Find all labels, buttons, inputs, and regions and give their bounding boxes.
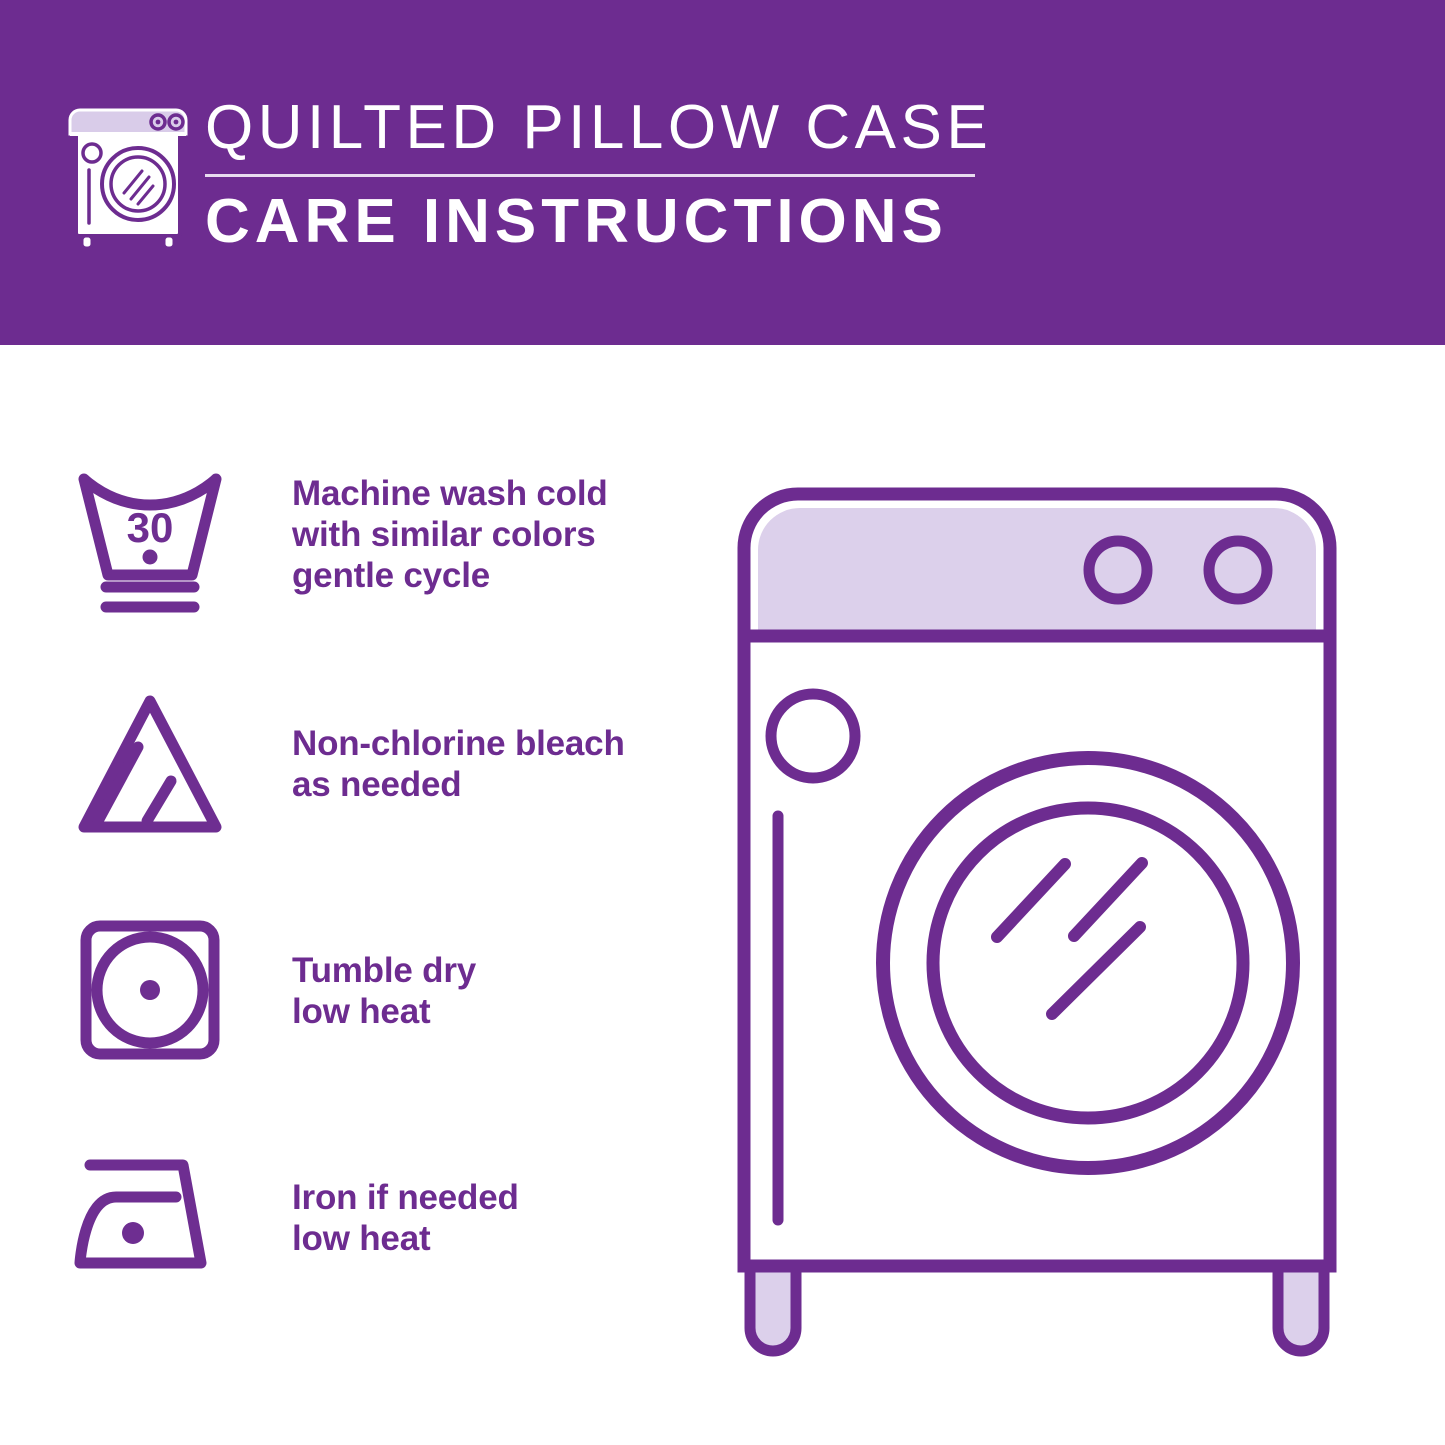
care-label-line: with similar colors	[292, 514, 608, 555]
knob-left	[1089, 541, 1147, 599]
care-label-iron: Iron if needed low heat	[292, 1177, 519, 1259]
knob-right	[1209, 541, 1267, 599]
detergent-dispenser-circle	[771, 694, 855, 778]
tumble-dry-low-heat-icon	[70, 910, 230, 1070]
page-subtitle: CARE INSTRUCTIONS	[205, 185, 995, 259]
care-label-line: Tumble dry	[292, 950, 476, 991]
page-title: QUILTED PILLOW CASE	[205, 92, 995, 164]
iron-low-heat-icon	[70, 1135, 230, 1295]
washing-machine-illustration	[700, 440, 1420, 1400]
care-label-tumble-dry: Tumble dry low heat	[292, 950, 476, 1032]
non-chlorine-bleach-triangle-icon	[70, 685, 230, 845]
care-row-iron: Iron if needed low heat	[0, 1135, 700, 1335]
care-label-line: gentle cycle	[292, 555, 608, 596]
leg-left	[750, 1260, 796, 1351]
care-label-line: low heat	[292, 1218, 519, 1259]
care-label-line: Non-chlorine bleach	[292, 723, 625, 764]
drum-inner-circle	[933, 808, 1243, 1118]
care-label-bleach: Non-chlorine bleach as needed	[292, 723, 625, 805]
wash-temperature-value: 30	[127, 504, 174, 551]
care-label-line: Machine wash cold	[292, 473, 608, 514]
care-label-machine-wash: Machine wash cold with similar colors ge…	[292, 473, 608, 596]
washing-machine-icon	[58, 98, 198, 248]
care-label-line: Iron if needed	[292, 1177, 519, 1218]
care-instructions-infographic: QUILTED PILLOW CASE CARE INSTRUCTIONS 30…	[0, 0, 1445, 1445]
care-row-bleach: Non-chlorine bleach as needed	[0, 685, 700, 885]
care-row-machine-wash: 30 Machine wash cold with similar colors…	[0, 457, 700, 657]
care-label-line: low heat	[292, 991, 476, 1032]
care-row-tumble-dry: Tumble dry low heat	[0, 910, 700, 1110]
wash-tub-30-gentle-icon: 30	[70, 457, 230, 617]
care-instruction-list: 30 Machine wash cold with similar colors…	[0, 345, 700, 1445]
title-divider	[205, 174, 975, 177]
header-title-group: QUILTED PILLOW CASE CARE INSTRUCTIONS	[205, 92, 995, 259]
leg-right	[1278, 1260, 1324, 1351]
care-label-line: as needed	[292, 764, 625, 805]
header-band: QUILTED PILLOW CASE CARE INSTRUCTIONS	[0, 0, 1445, 345]
